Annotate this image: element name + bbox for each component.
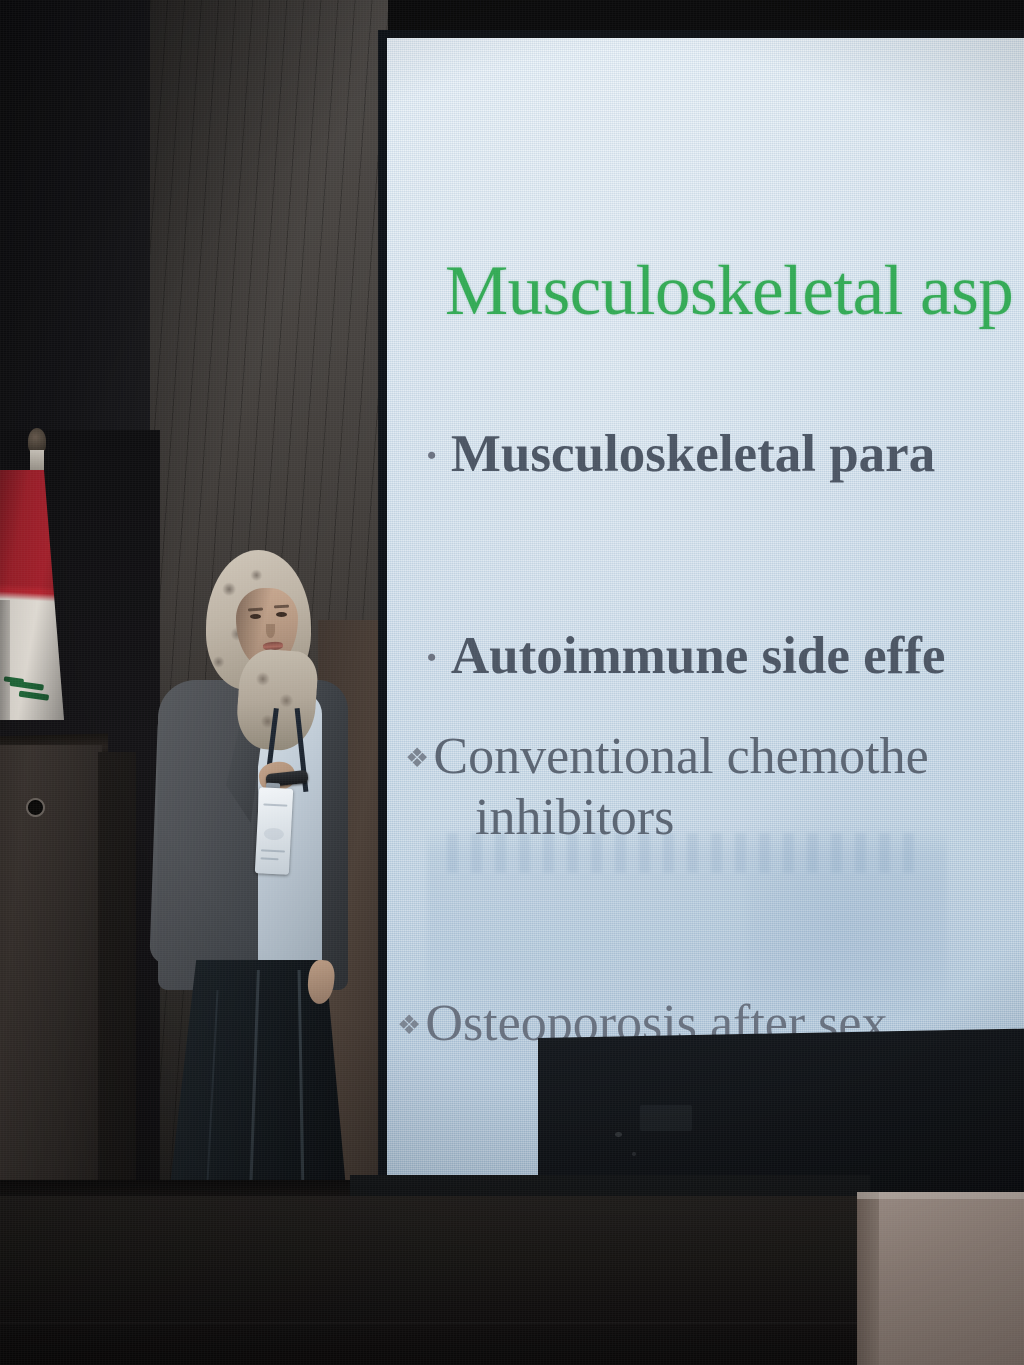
foreground-tan-panel	[857, 1192, 1024, 1365]
conference-photo: Musculoskeletal asp •Musculoskeletal par…	[0, 0, 1024, 1365]
podium	[0, 745, 102, 1205]
bullet-diamond-icon: ❖	[397, 1012, 425, 1039]
slide-bullet-2: •Autoimmune side effe	[427, 630, 945, 683]
dark-wall-left	[0, 0, 152, 440]
podium-side-panel	[98, 752, 136, 1202]
tan-panel-highlight	[857, 1192, 1024, 1199]
slide-title: Musculoskeletal asp	[445, 256, 1013, 327]
slide-content: Musculoskeletal asp •Musculoskeletal par…	[387, 38, 1024, 1203]
slide-bullet-3: ❖Conventional chemothe inhibitors	[405, 726, 1024, 849]
slide-bullet-3-continuation: inhibitors	[405, 787, 1024, 848]
presenter-hand-right	[306, 959, 336, 1005]
bullet-diamond-icon: ❖	[405, 743, 433, 775]
tan-panel-edge	[857, 1192, 879, 1365]
monitor-indicator-led	[615, 1132, 622, 1137]
slide-bullet-1: •Musculoskeletal para	[427, 428, 935, 481]
podium-cable-grommet	[26, 798, 45, 817]
monitor-logo	[640, 1105, 692, 1131]
presenter-eye-left	[250, 614, 261, 619]
slide-bullet-2-text: Autoimmune side effe	[451, 627, 946, 685]
slide-bullet-3-text: Conventional chemothe	[433, 728, 928, 785]
bullet-dot-icon: •	[427, 442, 451, 469]
presenter-eye-right	[276, 612, 287, 617]
presenter-nose	[266, 624, 275, 638]
bullet-dot-icon: •	[427, 644, 451, 671]
presenter	[140, 540, 390, 1220]
monitor-indicator-led	[632, 1152, 636, 1156]
slide-bullet-1-text: Musculoskeletal para	[451, 425, 935, 483]
presenter-name-badge	[255, 787, 293, 875]
flag-edge-shadow	[0, 600, 10, 730]
